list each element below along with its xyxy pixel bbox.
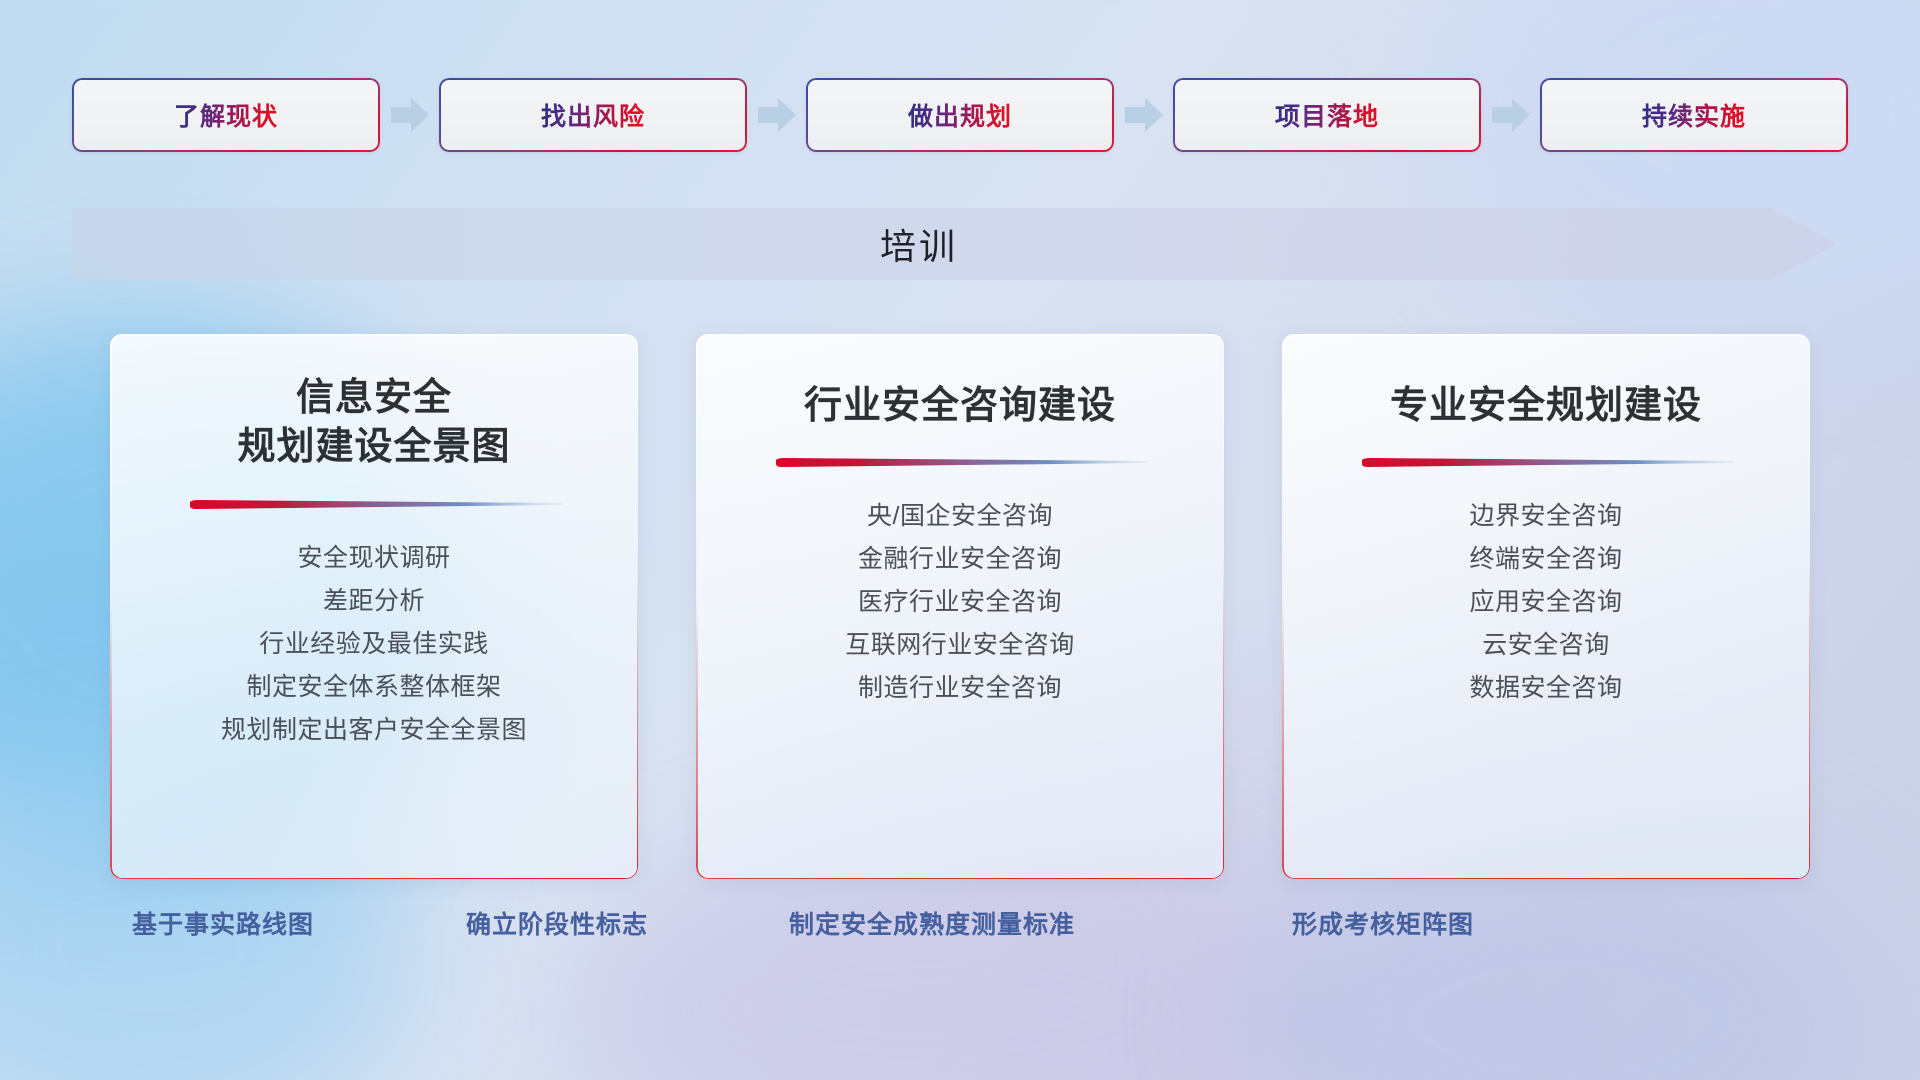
step-label: 项目落地 xyxy=(1275,97,1379,133)
step-label: 持续实施 xyxy=(1642,97,1746,133)
card-title-line: 行业安全咨询建设 xyxy=(720,382,1200,431)
card-title: 信息安全 规划建设全景图 xyxy=(110,374,638,473)
card-title-line: 信息安全 xyxy=(134,374,614,423)
list-item: 医疗行业安全咨询 xyxy=(696,581,1224,624)
footer-label-assessment-matrix: 形成考核矩阵图 xyxy=(1292,905,1474,941)
list-item: 应用安全咨询 xyxy=(1282,581,1810,624)
card-title-line: 专业安全规划建设 xyxy=(1306,382,1786,431)
card-professional-security-planning[interactable]: 专业安全规划建设 边界安全咨询 终端安全咨询 应用安全咨询 xyxy=(1282,334,1810,879)
card-item-list: 边界安全咨询 终端安全咨询 应用安全咨询 云安全咨询 数据安全咨询 xyxy=(1282,495,1810,710)
training-banner: 培训 xyxy=(72,208,1836,280)
tapered-accent-line-icon xyxy=(772,457,1148,469)
list-item: 终端安全咨询 xyxy=(1282,538,1810,581)
footer-label-row: 基于事实路线图 确立阶段性标志 制定安全成熟度测量标准 形成考核矩阵图 xyxy=(0,905,1920,953)
step-box-2[interactable]: 找出风险 xyxy=(439,78,747,152)
banner-title: 培训 xyxy=(72,208,1836,280)
process-step-row: 了解现状 找出风险 做出规划 项目落地 持续实施 xyxy=(72,78,1848,152)
card-information-security-panorama[interactable]: 信息安全 规划建设全景图 安全现状调研 差距分析 行业经 xyxy=(110,334,638,879)
card-industry-security-consulting[interactable]: 行业安全咨询建设 央/国企安全咨询 金融行业安全咨询 医疗行业安全咨 xyxy=(696,334,1224,879)
list-item: 差距分析 xyxy=(110,580,638,623)
card-group: 信息安全 规划建设全景图 安全现状调研 差距分析 行业经 xyxy=(110,334,1810,879)
list-item: 规划制定出客户安全全景图 xyxy=(110,709,638,752)
step-box-4[interactable]: 项目落地 xyxy=(1173,78,1481,152)
step-box-1[interactable]: 了解现状 xyxy=(72,78,380,152)
step-label: 做出规划 xyxy=(908,97,1012,133)
right-arrow-icon xyxy=(391,95,429,135)
list-item: 安全现状调研 xyxy=(110,537,638,580)
step-box-5[interactable]: 持续实施 xyxy=(1540,78,1848,152)
list-item: 制定安全体系整体框架 xyxy=(110,666,638,709)
list-item: 央/国企安全咨询 xyxy=(696,495,1224,538)
step-box-3[interactable]: 做出规划 xyxy=(806,78,1114,152)
step-label: 找出风险 xyxy=(541,97,645,133)
list-item: 边界安全咨询 xyxy=(1282,495,1810,538)
card-title: 行业安全咨询建设 xyxy=(696,382,1224,431)
footer-label-roadmap: 基于事实路线图 xyxy=(132,905,314,941)
footer-label-milestones: 确立阶段性标志 xyxy=(466,905,648,941)
right-arrow-icon xyxy=(1125,95,1163,135)
footer-label-maturity-standard: 制定安全成熟度测量标准 xyxy=(789,905,1075,941)
list-item: 制造行业安全咨询 xyxy=(696,667,1224,710)
card-title-line: 规划建设全景图 xyxy=(134,423,614,472)
card-item-list: 央/国企安全咨询 金融行业安全咨询 医疗行业安全咨询 互联网行业安全咨询 制造行… xyxy=(696,495,1224,710)
tapered-accent-line-icon xyxy=(1358,457,1734,469)
tapered-accent-line-icon xyxy=(186,499,562,511)
background-blob xyxy=(1440,0,1920,340)
list-item: 互联网行业安全咨询 xyxy=(696,624,1224,667)
card-item-list: 安全现状调研 差距分析 行业经验及最佳实践 制定安全体系整体框架 规划制定出客户… xyxy=(110,537,638,752)
card-title: 专业安全规划建设 xyxy=(1282,382,1810,431)
list-item: 数据安全咨询 xyxy=(1282,667,1810,710)
list-item: 行业经验及最佳实践 xyxy=(110,623,638,666)
right-arrow-icon xyxy=(758,95,796,135)
list-item: 云安全咨询 xyxy=(1282,624,1810,667)
step-label: 了解现状 xyxy=(174,97,278,133)
list-item: 金融行业安全咨询 xyxy=(696,538,1224,581)
right-arrow-icon xyxy=(1492,95,1530,135)
